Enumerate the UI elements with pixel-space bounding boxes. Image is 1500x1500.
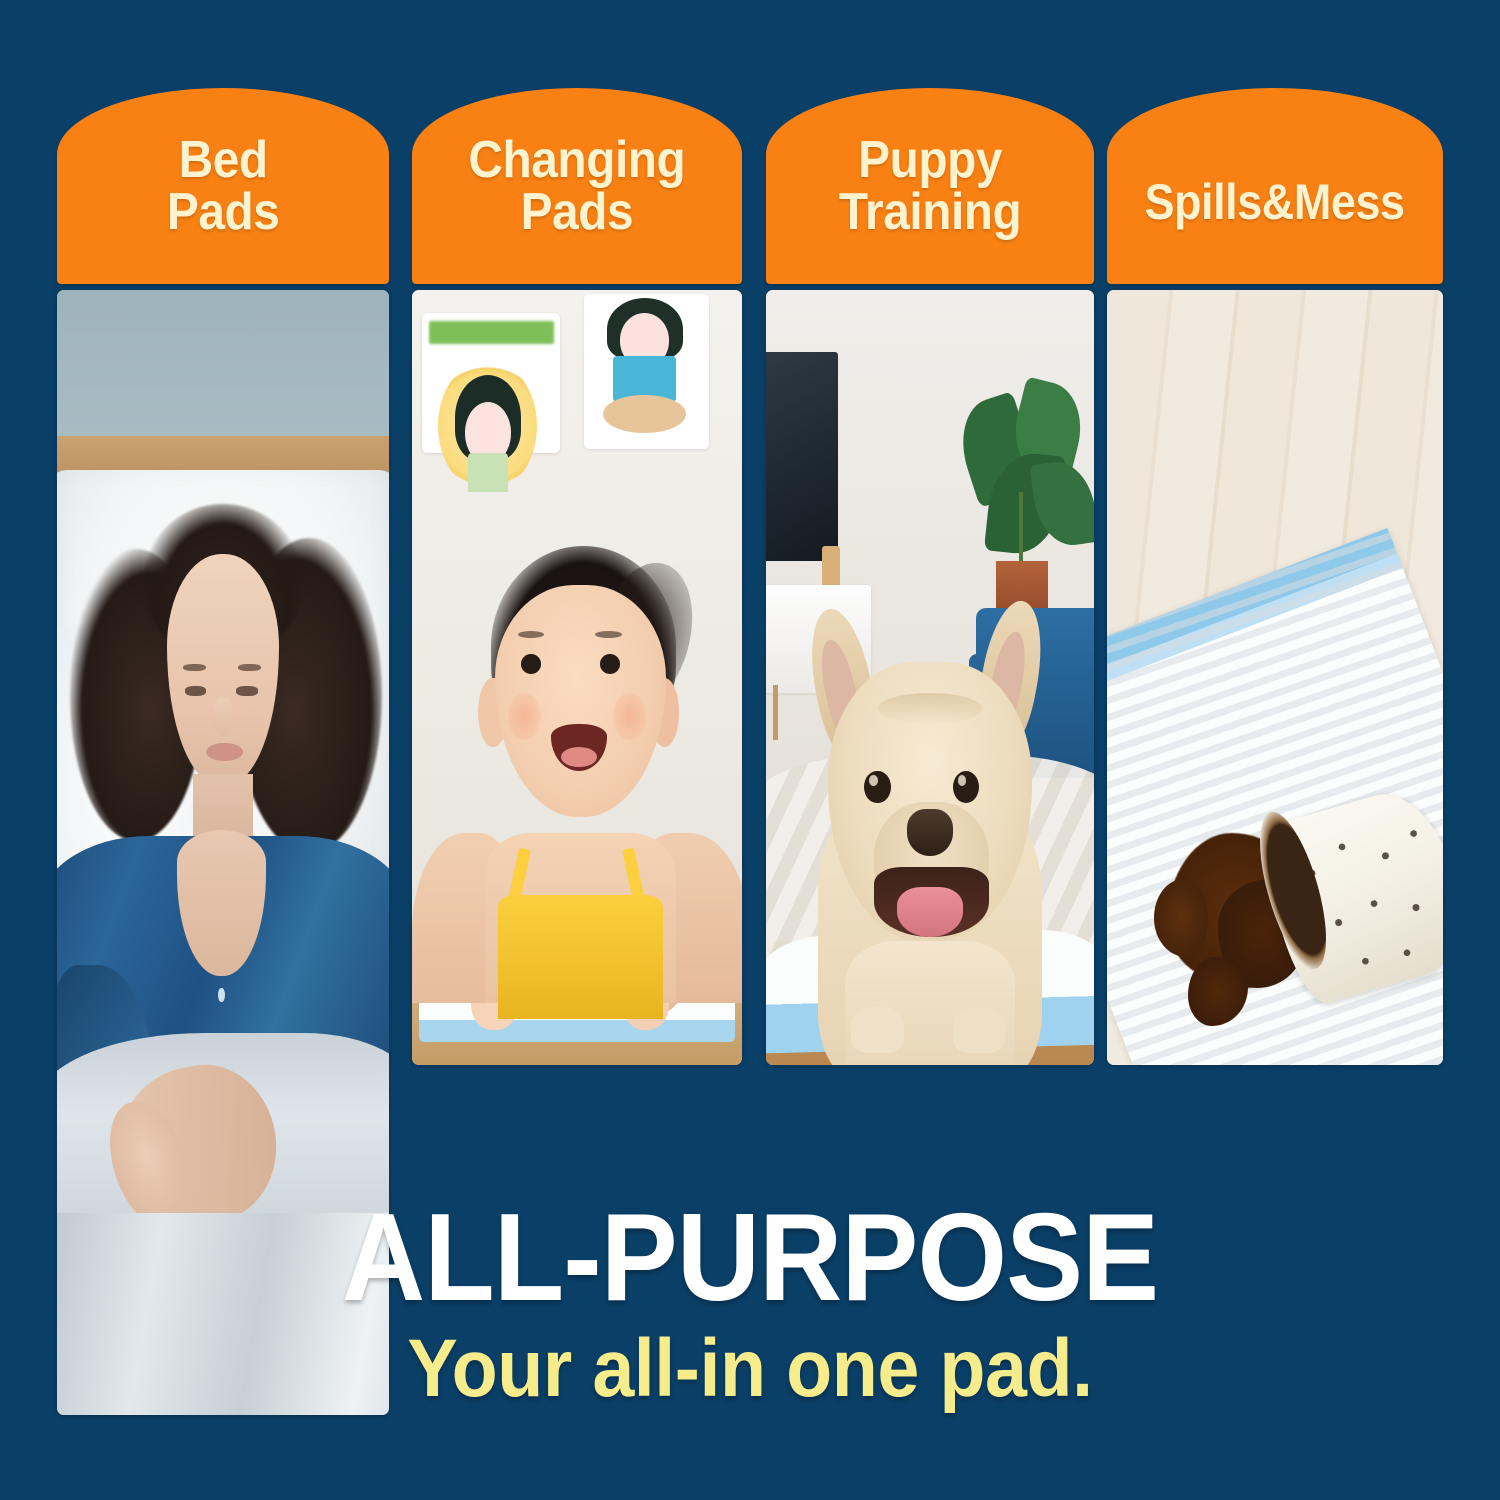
category-card-changing-pads[interactable]: Changing Pads bbox=[412, 88, 742, 284]
category-card-label: Changing Pads bbox=[469, 134, 686, 238]
subline-tagline: Your all-in one pad. bbox=[60, 1328, 1440, 1410]
category-card-label: Spills&Mess bbox=[1145, 177, 1405, 227]
scene-french-bulldog bbox=[766, 290, 1094, 1065]
photo-puppy-training bbox=[766, 290, 1094, 1065]
category-card-label: Puppy Training bbox=[839, 134, 1021, 238]
product-feature-banner: Bed Pads bbox=[0, 0, 1500, 1500]
photo-spills-and-mess bbox=[1107, 290, 1443, 1065]
scene-smiling-baby bbox=[412, 290, 742, 1065]
category-card-puppy-training[interactable]: Puppy Training bbox=[766, 88, 1094, 284]
photo-changing-pads bbox=[412, 290, 742, 1065]
scene-coffee-spill bbox=[1107, 290, 1443, 1065]
headline-all-purpose: ALL-PURPOSE bbox=[53, 1196, 1448, 1320]
category-card-spills-and-mess[interactable]: Spills&Mess bbox=[1107, 88, 1443, 284]
category-card-label: Bed Pads bbox=[167, 134, 280, 238]
category-card-bed-pads[interactable]: Bed Pads bbox=[57, 88, 389, 284]
